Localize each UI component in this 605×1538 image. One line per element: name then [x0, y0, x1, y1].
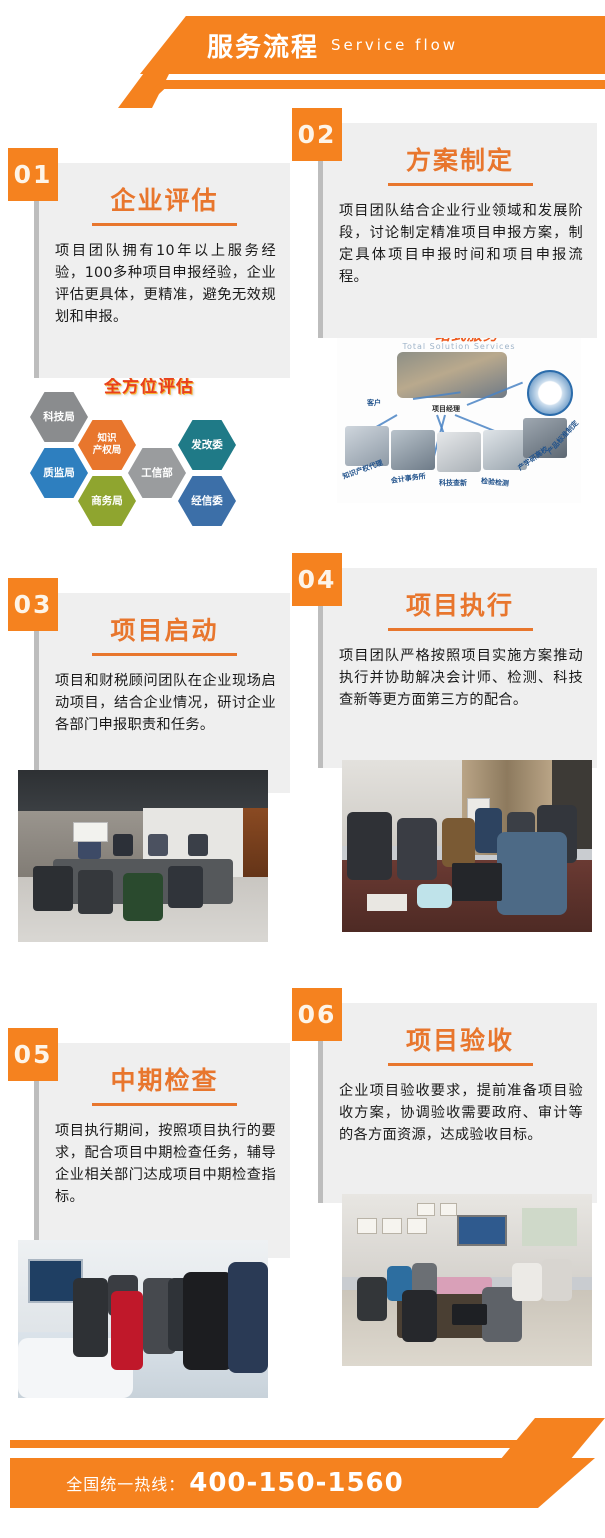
card-title: 项目执行	[323, 568, 597, 622]
hexagon-node-label: 质监局	[43, 467, 75, 479]
hexagon-node-zhijian: 质监局	[30, 448, 88, 498]
card-title: 中期检查	[39, 1043, 290, 1097]
whiteboard	[73, 822, 108, 843]
hexagon-node-label: 科技局	[43, 411, 75, 423]
flow-card-06[interactable]: 06 项目验收 企业项目验收要求，提前准备项目验收方案，协调验收需要政府、审计等…	[292, 988, 597, 1383]
person-left	[347, 812, 392, 881]
card-title: 方案制定	[323, 123, 597, 177]
one-stop-label-customer: 客户	[367, 398, 381, 408]
page-title: 服务流程	[207, 27, 319, 64]
header-stripe	[152, 80, 605, 89]
card-body: 方案制定 项目团队结合企业行业领域和发展阶段，讨论制定精准项目申报方案，制定具体…	[318, 123, 597, 338]
card-figure-photo-conference-room	[18, 770, 268, 942]
visitor-black-puffer	[183, 1272, 233, 1370]
one-stop-node-accounting	[391, 430, 435, 470]
one-stop-label-manager: 项目经理	[432, 404, 460, 414]
flow-card-04[interactable]: 04 项目执行 项目团队严格按照项目实施方案推动执行并协助解决会计师、检测、科技…	[292, 553, 597, 963]
certificate-frame	[407, 1218, 427, 1233]
card-description: 项目执行期间，按照项目执行的要求，配合项目中期检查任务，辅导企业相关部门达成项目…	[39, 1106, 290, 1220]
standards-seal-icon	[527, 370, 573, 416]
flow-card-05[interactable]: 05 中期检查 项目执行期间，按照项目执行的要求，配合项目中期检查任务，辅导企业…	[8, 1028, 290, 1398]
green-board	[522, 1208, 577, 1246]
page-subtitle: Service flow	[331, 36, 458, 54]
card-body: 项目验收 企业项目验收要求，提前准备项目验收方案，协调验收需要政府、审计等的各方…	[318, 1003, 597, 1203]
visitor-dark-jacket	[73, 1278, 108, 1357]
card-figure-photo-boardroom-meeting	[342, 1194, 592, 1366]
header-text-group: 服务流程 Service flow	[0, 16, 605, 74]
seated-person	[148, 834, 168, 856]
certificate-frame	[417, 1203, 435, 1217]
laptop	[452, 1304, 487, 1325]
one-stop-label-testing: 检验检测	[480, 476, 509, 489]
card-description: 项目团队拥有10年以上服务经验，100多种项目申报经验，企业评估更具体，更精准，…	[39, 226, 290, 340]
hexagon-node-keji: 科技局	[30, 392, 88, 442]
chair	[168, 866, 203, 907]
card-number-badge: 02	[292, 108, 342, 161]
flow-card-02[interactable]: 02 方案制定 项目团队结合企业行业领域和发展阶段，讨论制定精准项目申报方案，制…	[292, 108, 597, 528]
woman-red-coat	[111, 1291, 144, 1370]
flow-card-03[interactable]: 03 项目启动 项目和财税顾问团队在企业现场启动项目，结合企业情况，研讨企业各部…	[8, 578, 290, 978]
photo-scene	[342, 1194, 592, 1366]
card-number-badge: 03	[8, 578, 58, 631]
card-description: 项目团队严格按照项目实施方案推动执行并协助解决会计师、检测、科技查新等更方面第三…	[323, 631, 597, 723]
hexagon-node-gongxin: 工信部	[128, 448, 186, 498]
hotline-number[interactable]: 400-150-1560	[189, 1468, 404, 1498]
certificate-frame	[440, 1203, 458, 1217]
card-body: 项目执行 项目团队严格按照项目实施方案推动执行并协助解决会计师、检测、科技查新等…	[318, 568, 597, 768]
card-body: 中期检查 项目执行期间，按照项目执行的要求，配合项目中期检查任务，辅导企业相关部…	[34, 1043, 290, 1258]
hotline-label: 全国统一热线：	[66, 1471, 185, 1495]
hexagon-node-label: 发改委	[191, 439, 223, 451]
card-figure-photo-showroom-visit	[18, 1240, 268, 1398]
chair	[33, 866, 73, 911]
person-glasses	[397, 818, 437, 880]
hexagon-node-jingxin: 经信委	[178, 476, 236, 526]
flow-card-01[interactable]: 01 企业评估 项目团队拥有10年以上服务经验，100多种项目申报经验，企业评估…	[8, 148, 290, 543]
card-number-badge: 06	[292, 988, 342, 1041]
one-stop-node-research	[437, 432, 481, 472]
attendee-foreground	[402, 1290, 437, 1342]
one-stop-subtitle: Total Solution Services	[337, 342, 581, 351]
person-foreground	[497, 832, 567, 915]
papers	[367, 894, 407, 911]
hexagon-node-label: 商务局	[91, 495, 123, 507]
attendee-far-right	[542, 1259, 572, 1300]
photo-scene	[342, 760, 592, 932]
photo-scene	[18, 770, 268, 942]
attendee-white-shirt	[512, 1263, 542, 1301]
person-green-coat	[123, 873, 163, 921]
visitor-navy	[228, 1262, 268, 1373]
bag	[417, 884, 452, 908]
one-stop-label-research: 科技查新	[439, 478, 467, 488]
hexagon-node-label: 工信部	[141, 467, 173, 479]
card-title: 企业评估	[39, 163, 290, 217]
card-title: 项目启动	[39, 593, 290, 647]
person-brown-coat	[442, 818, 475, 866]
card-body: 企业评估 项目团队拥有10年以上服务经验，100多种项目申报经验，企业评估更具体…	[34, 163, 290, 378]
hexagon-node-label: 知识产权局	[93, 433, 122, 457]
card-description: 企业项目验收要求，提前准备项目验收方案，协调验收需要政府、审计等的各方面资源，达…	[323, 1066, 597, 1158]
card-description: 项目团队结合企业行业领域和发展阶段，讨论制定精准项目申报方案，制定具体项目申报时…	[323, 186, 597, 300]
seated-person	[188, 834, 208, 856]
hexagon-node-zhishichanquan: 知识产权局	[78, 420, 136, 470]
certificate-frame	[382, 1218, 402, 1233]
footer-stripe	[10, 1440, 580, 1448]
one-stop-node-ip	[345, 426, 389, 466]
hexagon-node-label: 经信委	[191, 495, 223, 507]
footer-hotline-group: 全国统一热线： 400-150-1560	[0, 1458, 470, 1508]
card-description: 项目和财税顾问团队在企业现场启动项目，结合企业情况，研讨企业各部门申报职责和任务…	[39, 656, 290, 748]
card-figure-photo-meeting-laptops	[342, 760, 592, 932]
service-flow-poster: 服务流程 Service flow 01 企业评估 项目团队拥有10年以上服务经…	[0, 0, 605, 1538]
chair	[78, 870, 113, 915]
photo-scene	[18, 1240, 268, 1398]
seated-person	[113, 834, 133, 856]
card-body: 项目启动 项目和财税顾问团队在企业现场启动项目，结合企业情况，研讨企业各部门申报…	[34, 593, 290, 793]
one-stop-hub-photo	[397, 352, 507, 398]
certificate-frame	[357, 1218, 377, 1233]
card-figure-one-stop-service: 一站式服务 Total Solution Services 客户 项目经理 知识…	[337, 318, 581, 503]
card-number-badge: 01	[8, 148, 58, 201]
card-number-badge: 04	[292, 553, 342, 606]
card-figure-hexagon-assessment: 全方位评估 科技局 知识产权局 质监局 商务局 工信部 发改委 经信委	[16, 366, 290, 529]
laptop	[452, 863, 502, 901]
page-footer: 全国统一热线： 400-150-1560	[0, 1418, 605, 1538]
card-title: 项目验收	[323, 1003, 597, 1057]
one-stop-label-accounting: 会计事务所	[390, 471, 426, 486]
card-number-badge: 05	[8, 1028, 58, 1081]
page-header: 服务流程 Service flow	[0, 0, 605, 108]
attendee-left	[357, 1277, 387, 1322]
projection-screen	[457, 1215, 507, 1246]
hexagon-node-fagai: 发改委	[178, 420, 236, 470]
hexagon-node-shangwu: 商务局	[78, 476, 136, 526]
